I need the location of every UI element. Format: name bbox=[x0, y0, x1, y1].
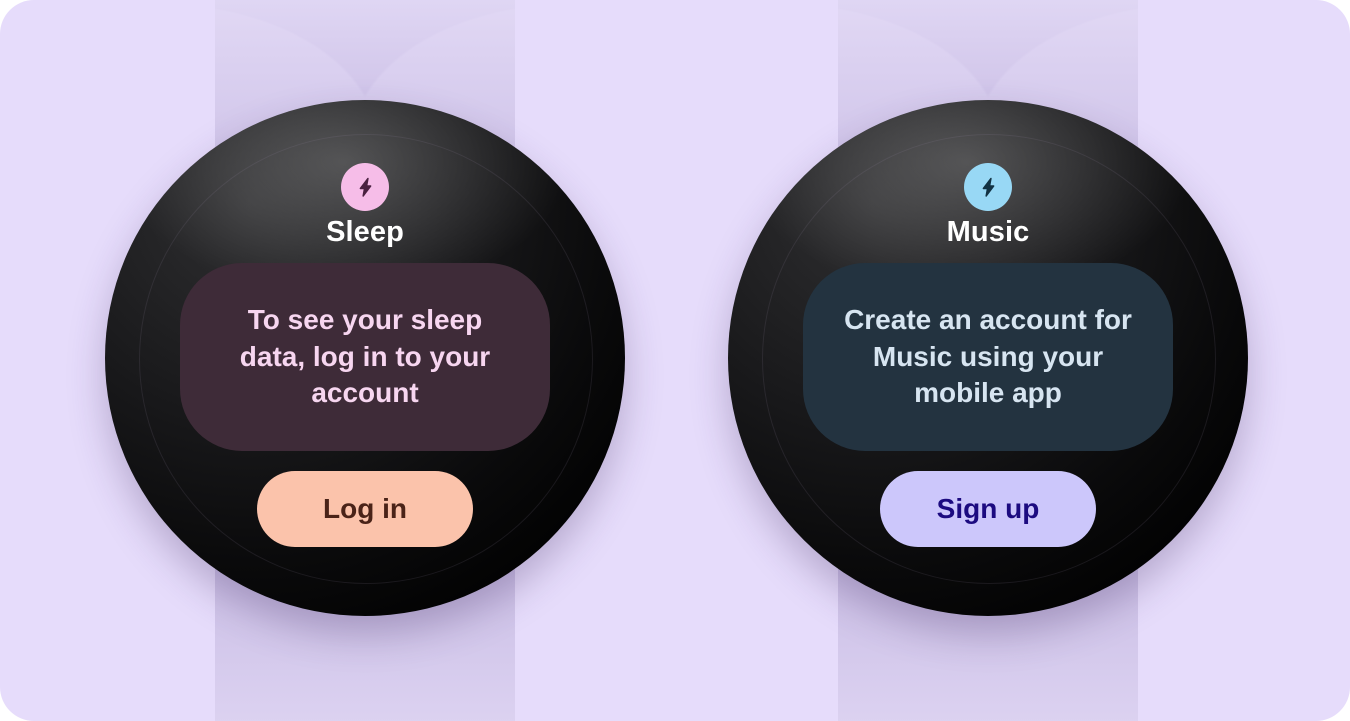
message-card: Create an account for Music using your m… bbox=[803, 263, 1173, 451]
sign-up-button[interactable]: Sign up bbox=[880, 471, 1096, 547]
log-in-button[interactable]: Log in bbox=[257, 471, 473, 547]
smartwatch-music: Music Create an account for Music using … bbox=[728, 0, 1248, 721]
message-card: To see your sleep data, log in to your a… bbox=[180, 263, 550, 451]
watch-body: Music Create an account for Music using … bbox=[728, 100, 1248, 616]
lightning-bolt-icon bbox=[341, 163, 389, 211]
screenshot-canvas: Sleep To see your sleep data, log in to … bbox=[0, 0, 1350, 721]
watch-screen: Music Create an account for Music using … bbox=[728, 100, 1248, 616]
smartwatch-sleep: Sleep To see your sleep data, log in to … bbox=[105, 0, 625, 721]
message-text: To see your sleep data, log in to your a… bbox=[214, 302, 516, 411]
app-name-label: Sleep bbox=[326, 217, 404, 249]
watch-body: Sleep To see your sleep data, log in to … bbox=[105, 100, 625, 616]
message-text: Create an account for Music using your m… bbox=[837, 302, 1139, 411]
app-name-label: Music bbox=[947, 217, 1030, 249]
lightning-bolt-icon bbox=[964, 163, 1012, 211]
watch-screen: Sleep To see your sleep data, log in to … bbox=[105, 100, 625, 616]
